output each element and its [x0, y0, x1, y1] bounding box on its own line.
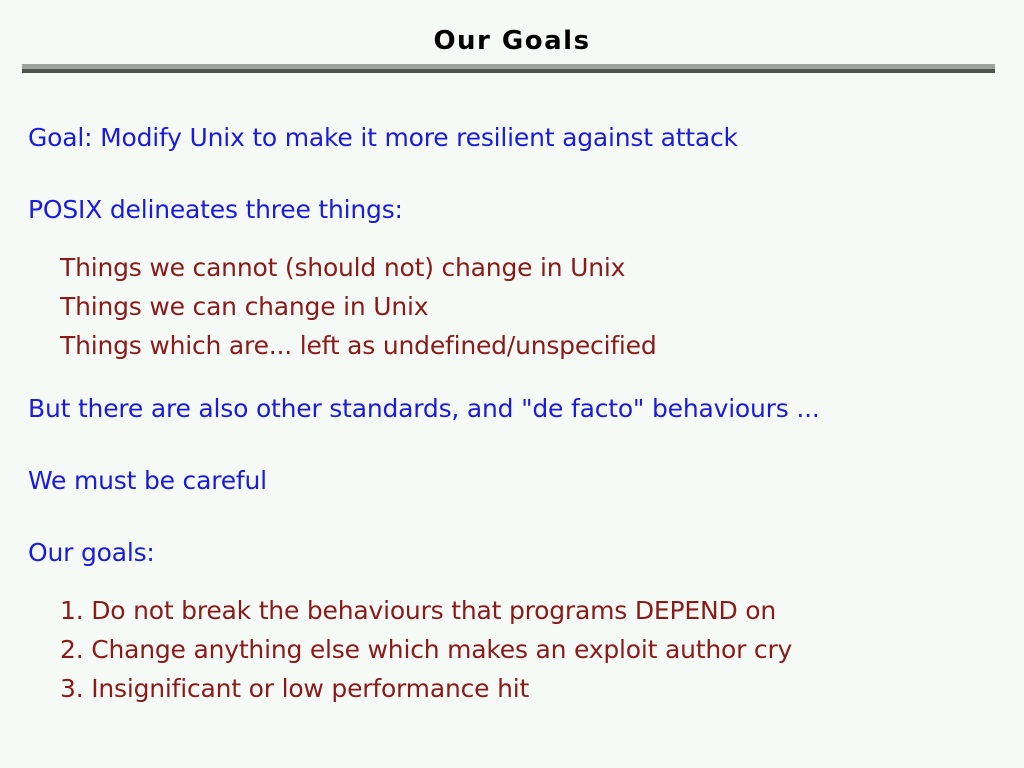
goal-item-2: 2. Change anything else which makes an e…: [60, 630, 1024, 669]
slide-canvas: Our Goals Goal: Modify Unix to make it m…: [0, 0, 1024, 768]
sub-bullet-undefined: Things which are... left as undefined/un…: [60, 326, 1024, 365]
bullet-be-careful: We must be careful: [28, 465, 1024, 497]
sub-bullet-cannot-change: Things we cannot (should not) change in …: [60, 248, 1024, 287]
title-divider: [22, 64, 995, 73]
bullet-posix-heading: POSIX delineates three things:: [28, 194, 1024, 226]
slide-body: Goal: Modify Unix to make it more resili…: [0, 112, 1024, 708]
bullet-our-goals-heading: Our goals:: [28, 537, 1024, 569]
bullet-goal-statement: Goal: Modify Unix to make it more resili…: [28, 122, 1024, 154]
sub-bullet-can-change: Things we can change in Unix: [60, 287, 1024, 326]
page-title: Our Goals: [0, 26, 1024, 56]
goal-item-1: 1. Do not break the behaviours that prog…: [60, 591, 1024, 630]
divider-shadow: [22, 69, 995, 73]
goal-item-3: 3. Insignificant or low performance hit: [60, 669, 1024, 708]
bullet-other-standards: But there are also other standards, and …: [28, 393, 1024, 425]
